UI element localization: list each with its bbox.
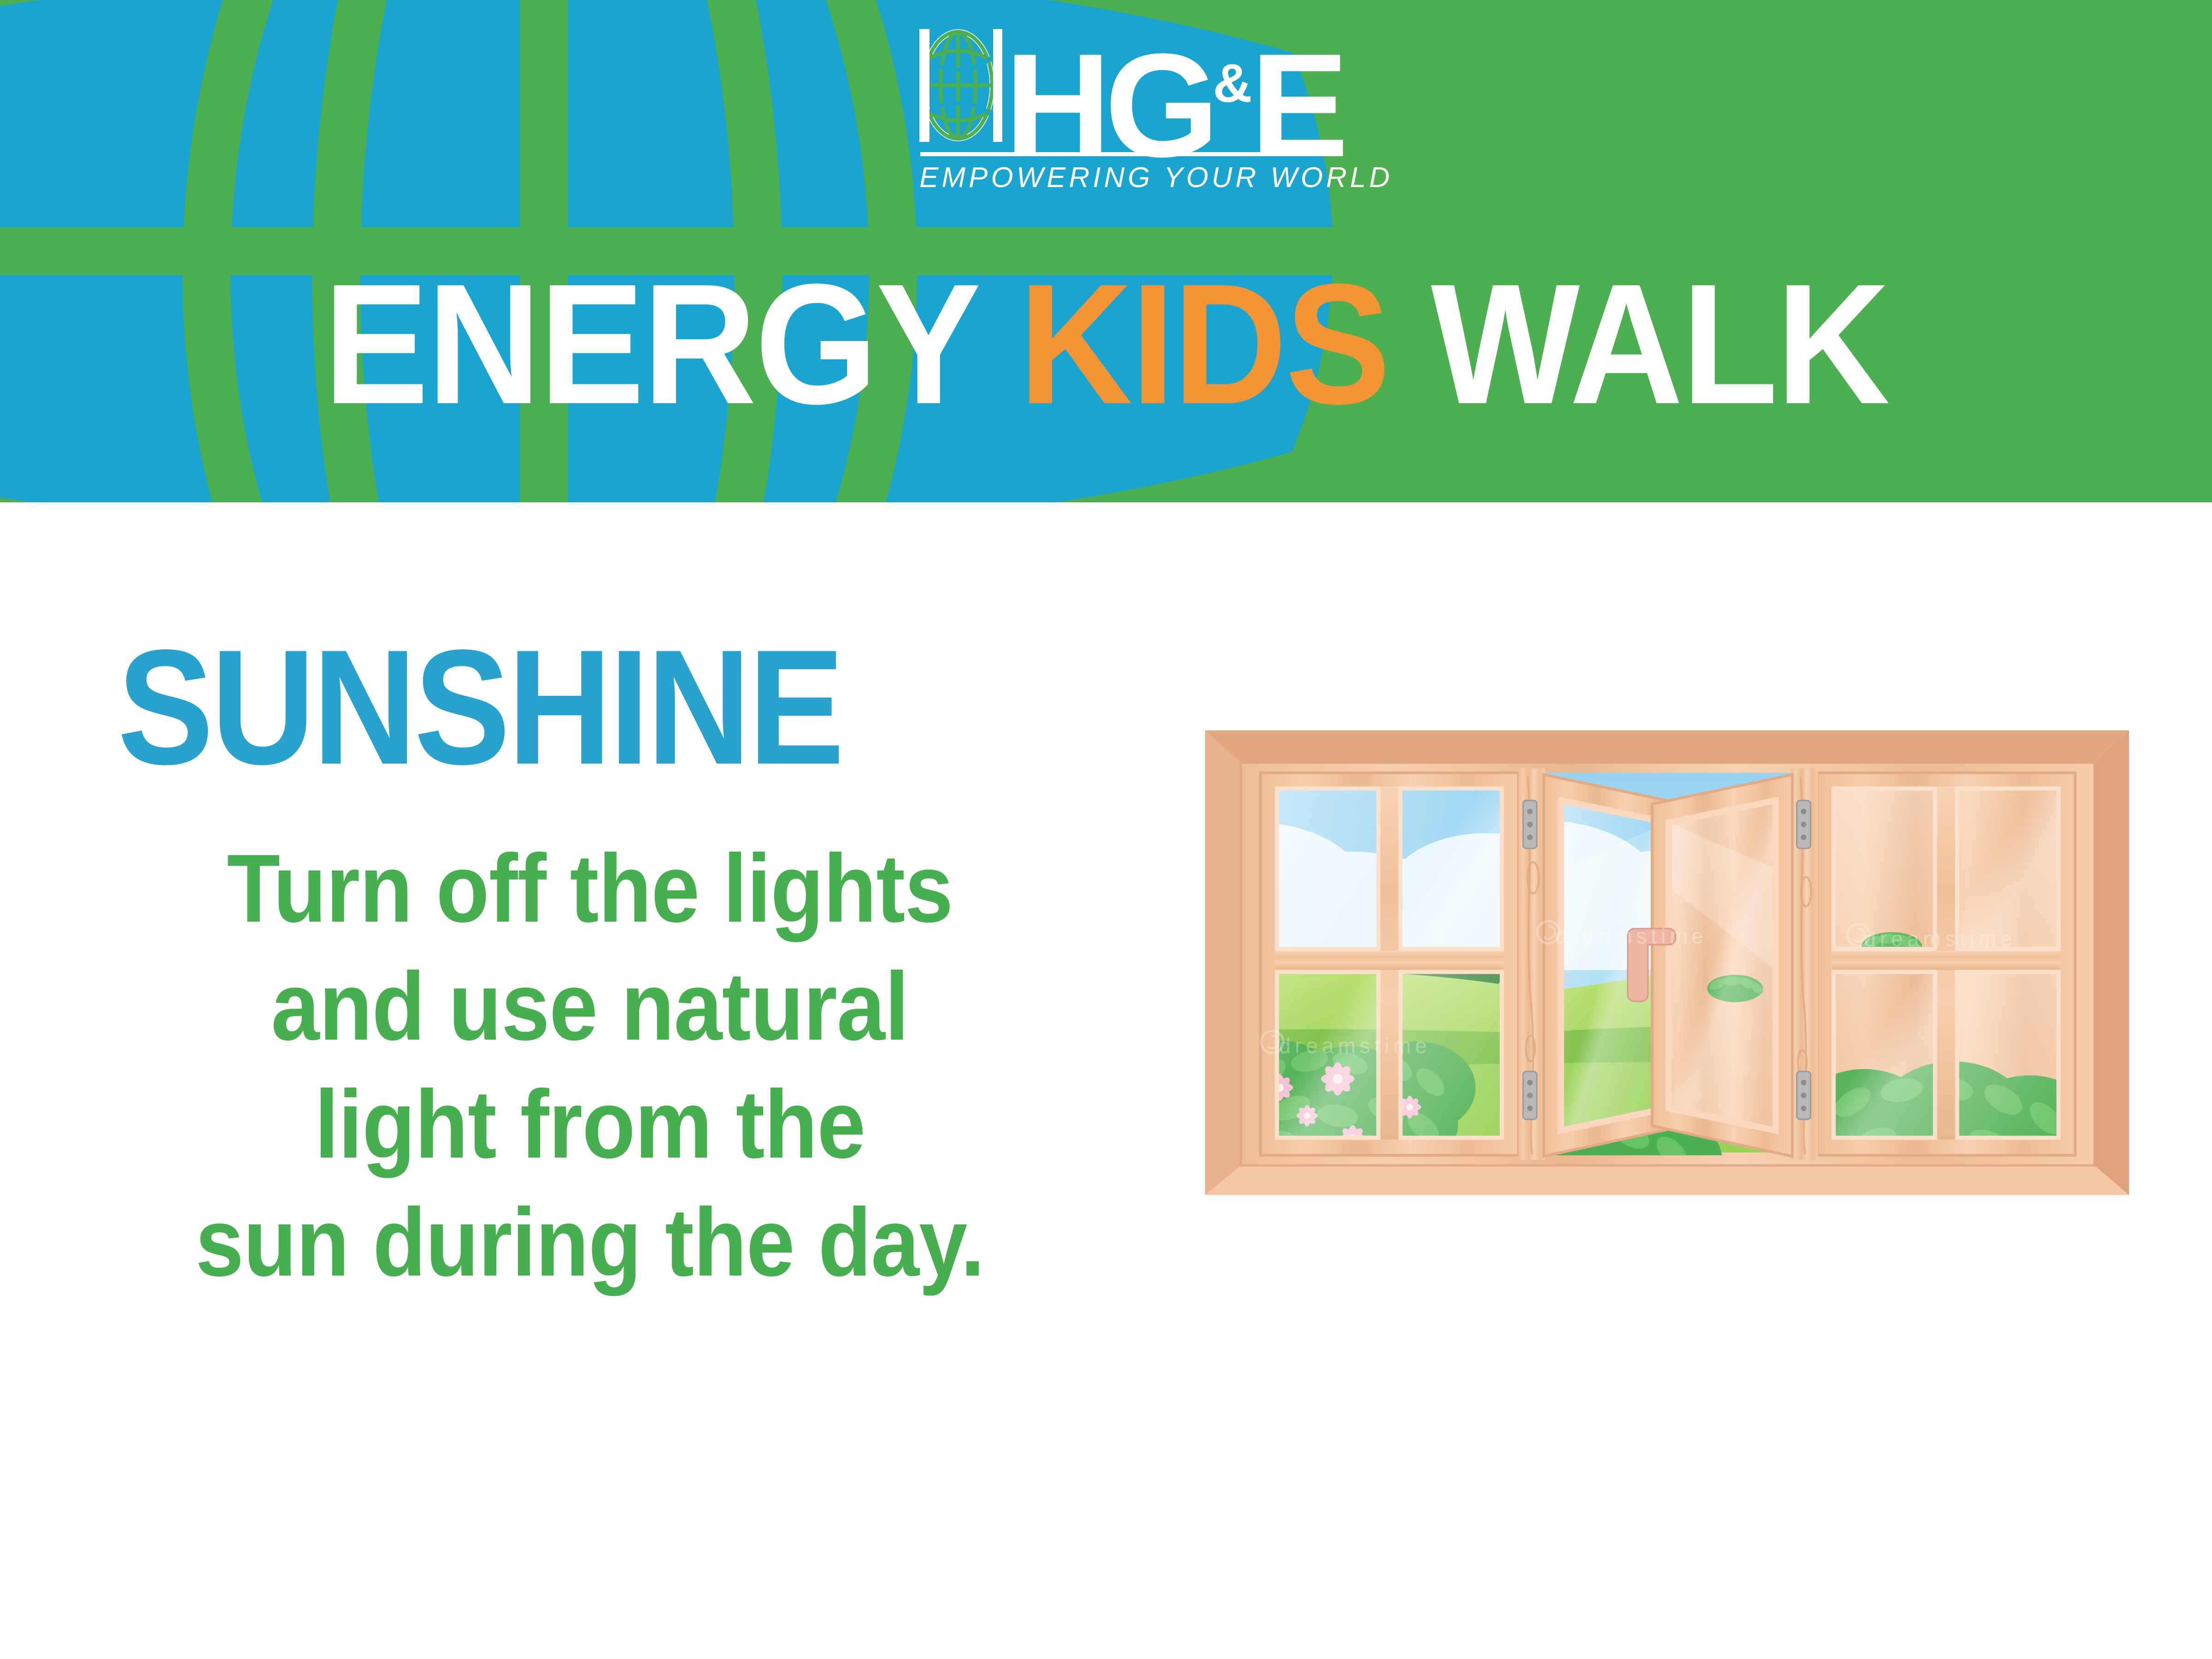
body-line-3: light from the: [109, 1065, 1071, 1183]
logo-row: HG&E: [919, 25, 1302, 145]
hinge-right-bottom: [1797, 1071, 1811, 1119]
body-line-4: sun during the day.: [109, 1183, 1071, 1301]
hinge-left-bottom: [1523, 1071, 1537, 1119]
page-title: SUNSHINE: [118, 629, 842, 786]
banner-title: ENERGY KIDS WALK: [88, 258, 2124, 429]
hge-globe-icon: [919, 29, 1002, 142]
hge-logo: HG&E EMPOWERING YOUR WORLD: [919, 25, 1302, 187]
banner-title-energy: ENERGY: [324, 248, 1018, 440]
banner-title-walk: WALK: [1389, 248, 1888, 440]
hinge-right-top: [1797, 800, 1811, 848]
watermark-text-2: dreamstime: [1864, 927, 2016, 951]
body-copy: Turn off the lights and use natural ligh…: [109, 829, 1071, 1301]
header-banner: HG&E EMPOWERING YOUR WORLD ENERGY KIDS W…: [0, 0, 2212, 502]
logo-wordmark-ampersand: &: [1213, 53, 1250, 114]
open-window-illustration: dreamstime dreamstime dreamstime: [1205, 730, 2129, 1195]
body-line-1: Turn off the lights: [109, 829, 1071, 947]
watermark-text-3: dreamstime: [1279, 1034, 1431, 1058]
watermark-text-1: dreamstime: [1555, 924, 1707, 948]
logo-divider: [920, 152, 1294, 156]
banner-title-kids: KIDS: [1019, 248, 1389, 440]
body-line-2: and use natural: [109, 947, 1071, 1065]
hinge-left-top: [1523, 800, 1537, 848]
logo-tagline: EMPOWERING YOUR WORLD: [919, 164, 1302, 192]
